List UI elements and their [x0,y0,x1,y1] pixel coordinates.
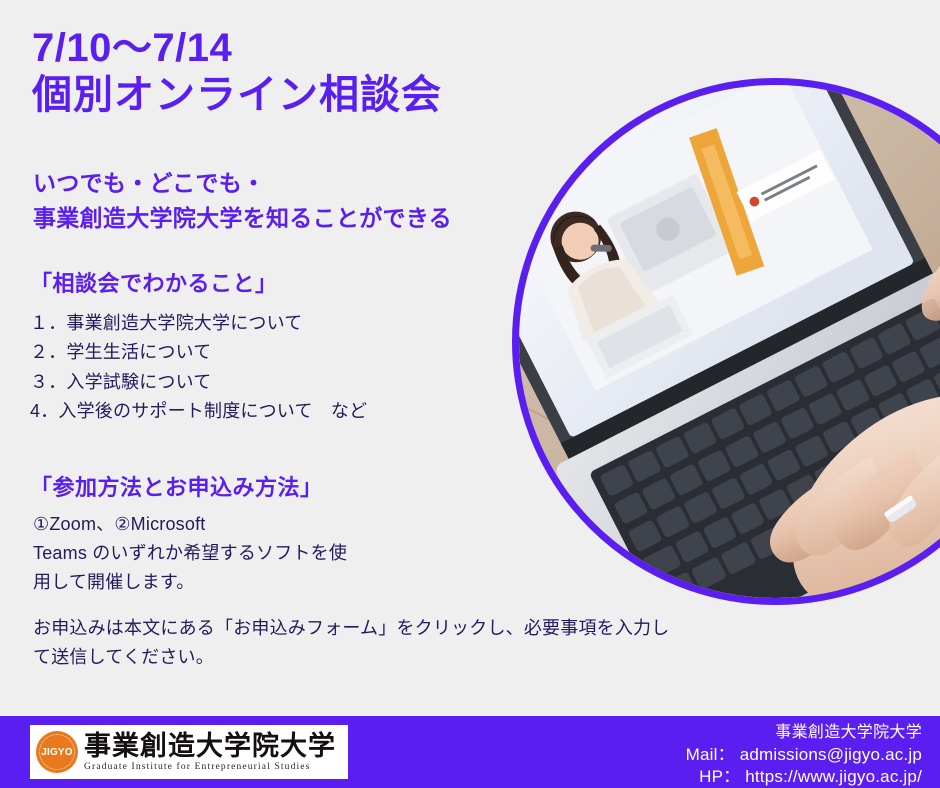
footer-bar: JIGYO 事業創造大学院大学 Graduate Institute for E… [0,716,940,788]
university-logo: JIGYO 事業創造大学院大学 Graduate Institute for E… [30,725,348,779]
meeting-tools-line-2: Teams のいずれか希望するソフトを使 [33,539,453,568]
application-note-line-2: て送信してください。 [33,643,723,672]
logo-text-group: 事業創造大学院大学 Graduate Institute for Entrepr… [84,732,336,772]
meeting-tools-line-1: ①Zoom、②Microsoft [33,510,453,539]
poster-canvas: 7/10〜7/14 個別オンライン相談会 いつでも・どこでも・ 事業創造大学院大… [0,0,940,788]
application-note-paragraph: お申込みは本文にある「お申込みフォーム」をクリックし、必要事項を入力し て送信し… [33,614,723,672]
list-item: ２．学生生活について [30,338,500,367]
headline-block: 7/10〜7/14 個別オンライン相談会 [32,26,552,120]
logo-name-english: Graduate Institute for Entrepreneurial S… [84,762,336,772]
subtitle-line-1: いつでも・どこでも・ [33,166,543,201]
headline-date-range: 7/10〜7/14 [32,26,552,71]
contact-block: 事業創造大学院大学 Mail： admissions@jigyo.ac.jp H… [686,722,922,788]
list-item: 4．入学後のサポート制度について など [30,397,500,426]
application-note-line-1: お申込みは本文にある「お申込みフォーム」をクリックし、必要事項を入力し [33,614,723,643]
list-item: ３．入学試験について [30,368,500,397]
meeting-tools-line-3: 用して開催します。 [33,568,453,597]
subtitle-line-2: 事業創造大学院大学を知ることができる [33,201,543,236]
photo-inner [519,85,940,598]
section-heading-application: 「参加方法とお申込み方法」 [30,470,323,502]
meeting-tools-paragraph: ①Zoom、②Microsoft Teams のいずれか希望するソフトを使 用し… [33,510,453,597]
headline-title: 個別オンライン相談会 [32,71,552,120]
consultation-topic-list: １．事業創造大学院大学について ２．学生生活について ３．入学試験について 4．… [30,309,500,426]
logo-name-japanese: 事業創造大学院大学 [84,732,336,760]
jigyo-badge-icon: JIGYO [36,731,78,773]
contact-organization: 事業創造大学院大学 [686,722,922,744]
jigyo-badge-label: JIGYO [41,747,73,758]
section-heading-consultation: 「相談会でわかること」 [30,266,278,298]
laptop-typing-illustration [519,85,940,598]
list-item: １．事業創造大学院大学について [30,309,500,338]
subtitle-block: いつでも・どこでも・ 事業創造大学院大学を知ることができる [33,166,543,235]
contact-homepage[interactable]: HP： https://www.jigyo.ac.jp/ [686,766,922,788]
online-consultation-photo [512,78,940,605]
contact-mail[interactable]: Mail： admissions@jigyo.ac.jp [686,744,922,766]
